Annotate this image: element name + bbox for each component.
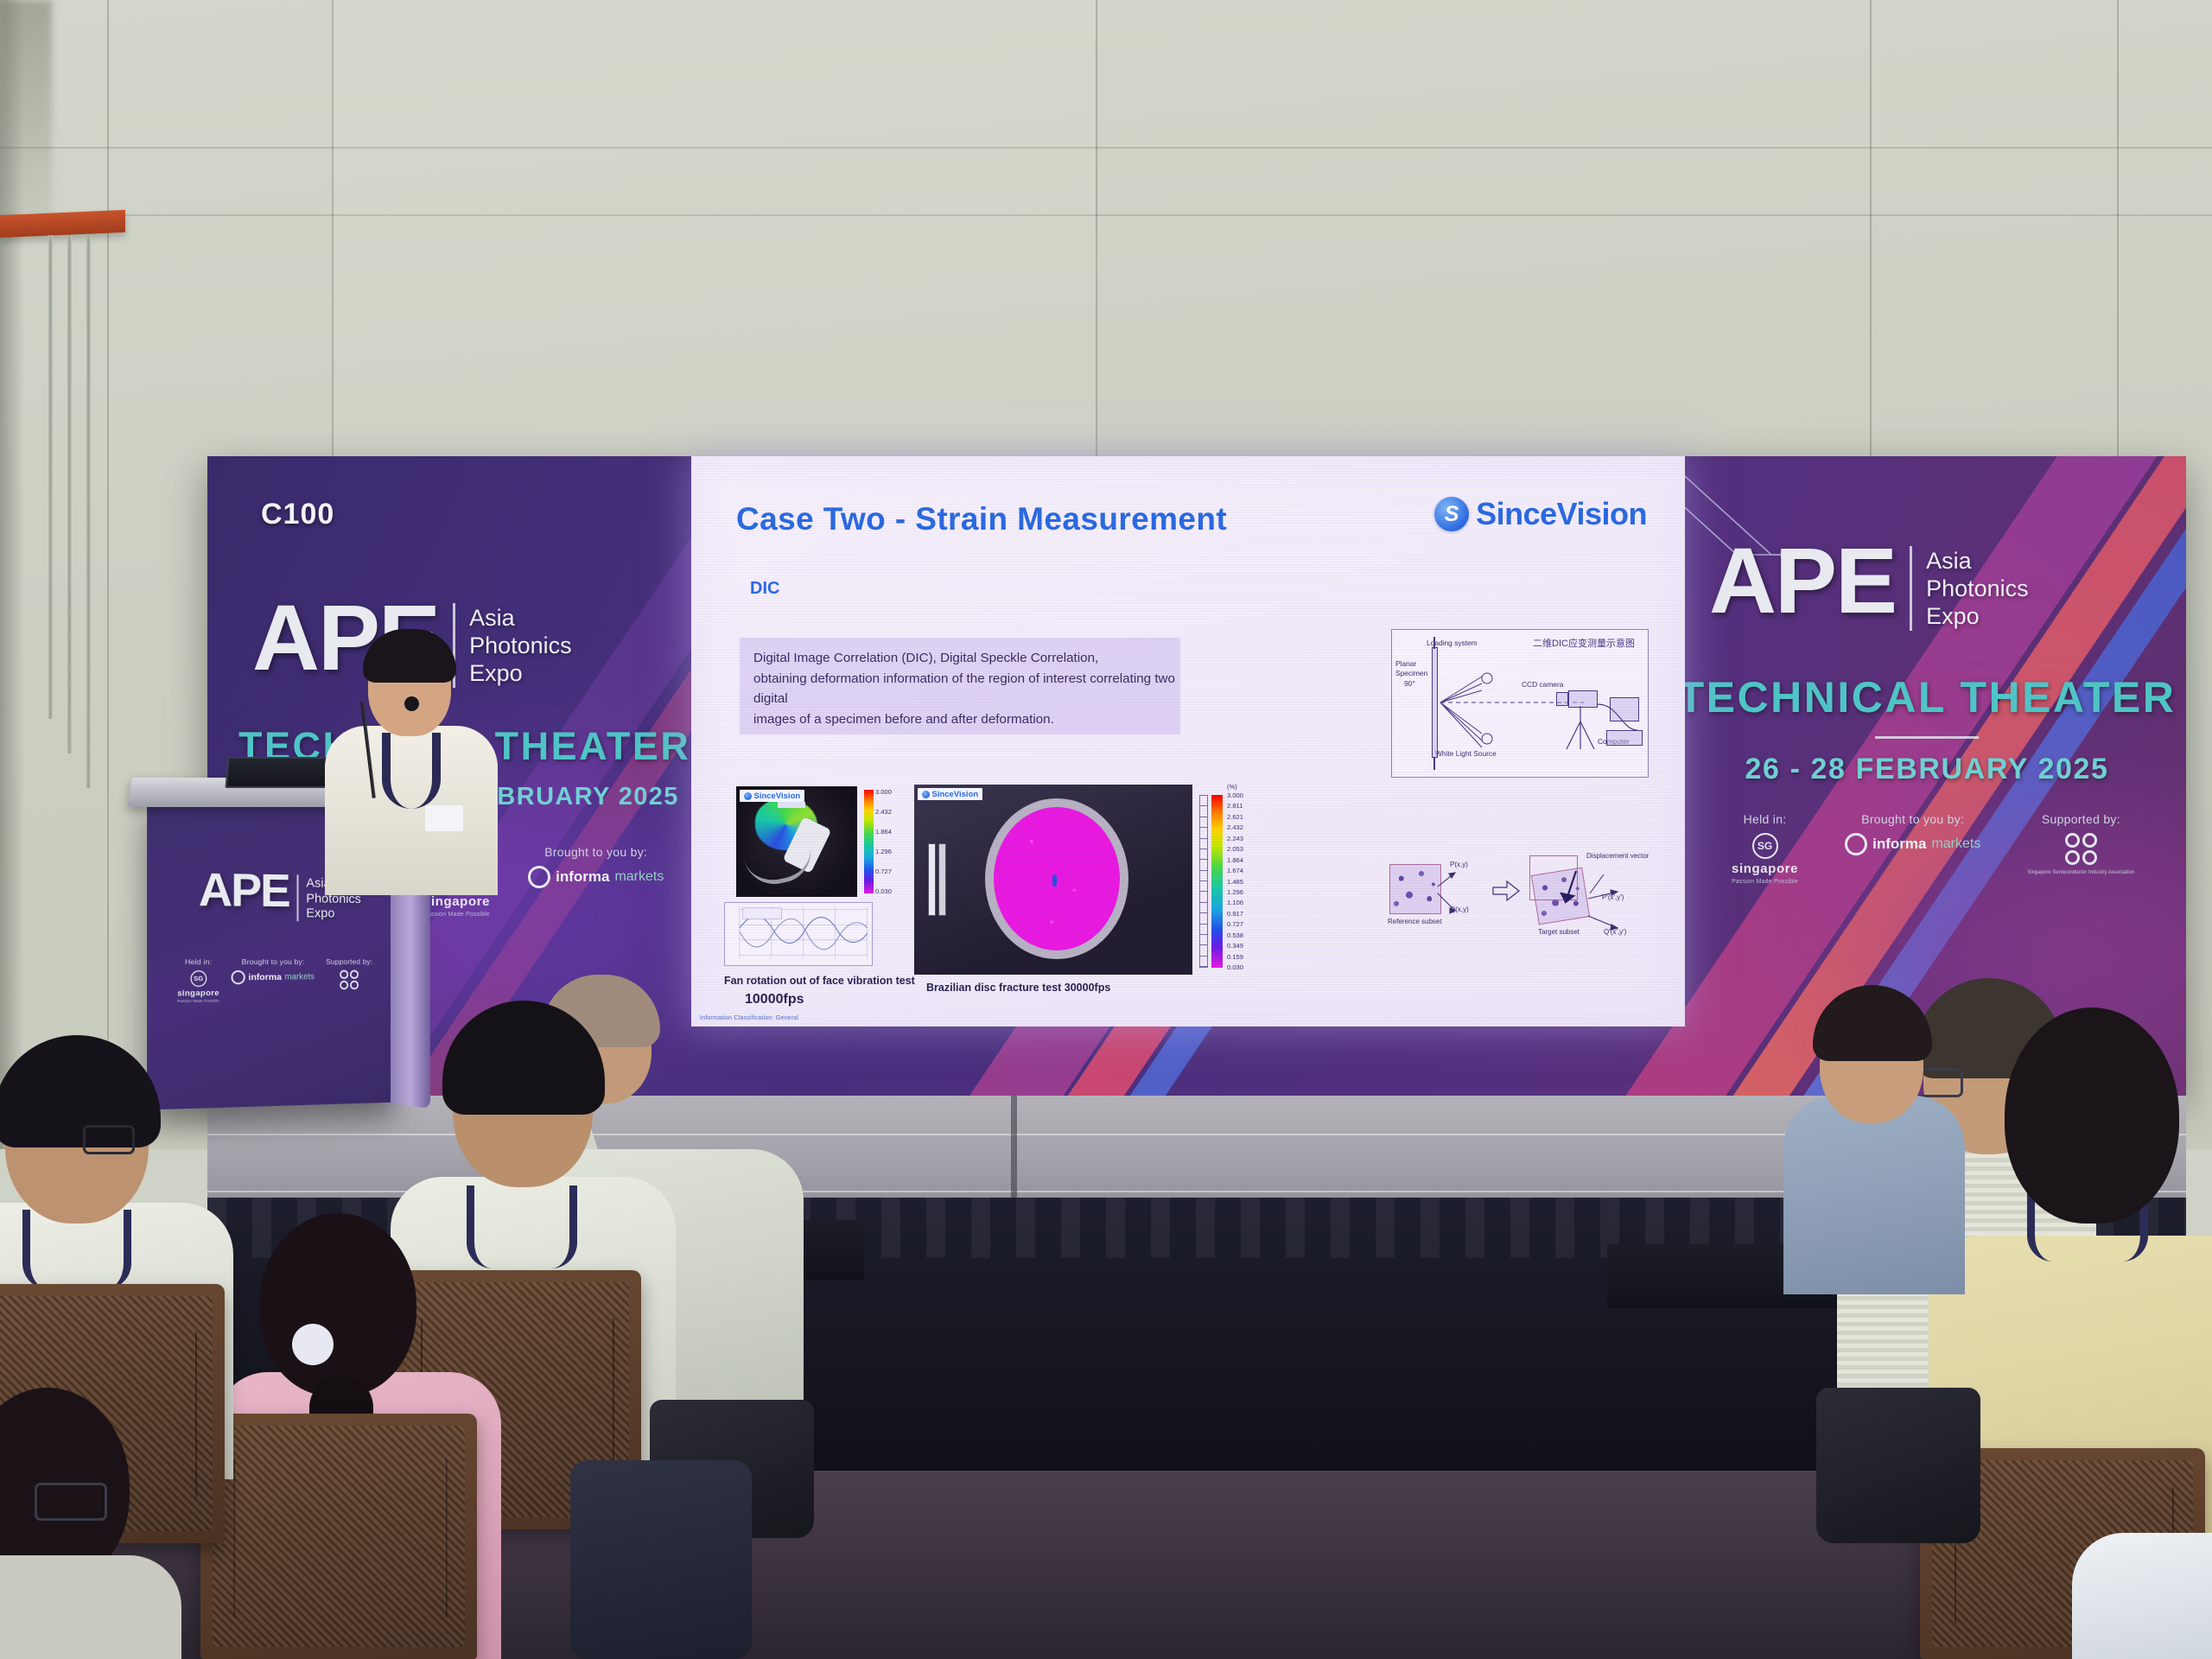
loading-platen-left [928,843,936,916]
dic-schematic-diagram: Loading system Planar Specimen 90° White… [1391,629,1649,778]
sg-ring-icon: SG [190,970,207,987]
sponsor-held-in: Held in: SG singapore Passion Made Possi… [177,957,219,1003]
cb-tick: 3.000 [875,788,892,796]
ape-wordmark: APE [1709,539,1896,621]
presenter-badge [425,805,463,831]
audience-torso [0,1555,181,1659]
fan-housing [744,845,817,889]
cb-tick: 2.621 [1227,813,1243,821]
sponsor-name: informa [1872,836,1926,853]
cb-tick: 2.243 [1227,835,1243,842]
result-caption-fan-line2: 10000fps [745,992,804,1007]
cb-tick: 0.917 [1227,910,1243,918]
sponsor-name: singapore [1732,861,1798,876]
slide-title: Case Two - Strain Measurement [736,501,1227,537]
description-line: obtaining deformation information of the… [753,669,1177,709]
sponsor-tagline: Singapore Semiconductor Industry Associa… [2027,870,2134,875]
cb-tick: 1.674 [1227,867,1243,874]
result-badge-disc: SinceVision [918,788,982,800]
ape-sub-expo: Expo [306,906,360,922]
sponsor-name: singapore [177,988,219,998]
cb-tick: 1.296 [1227,888,1243,896]
cb-tick: 2.053 [1227,845,1243,853]
sponsor-tagline: markets [1931,836,1980,852]
sponsor-tagline: markets [614,869,664,885]
ccd-lens [1556,692,1568,706]
colorbar-unit: (%) [1227,783,1237,791]
sponsor-name: informa [556,868,609,886]
audience-chair [200,1414,477,1659]
sponsor-held-in: Held in: SG singapore Passion Made Possi… [1732,812,1798,885]
audience-lanyard [467,1185,577,1268]
sincevision-wordmark: SinceVision [1476,496,1647,532]
description-line: images of a specimen before and after de… [753,709,1177,730]
cb-tick: 2.811 [1227,802,1243,810]
colorbar-cells-disc [1199,795,1208,968]
result-badge-fan: SinceVision [740,790,804,802]
sponsor-label: Held in: [177,957,219,966]
audience-torso [1783,1096,1965,1294]
badge-text: SinceVision [754,791,801,801]
ape-logo-lockup-right: APE Asia Photonics Expo [1709,539,2029,631]
four-circles-icon [340,970,359,990]
sponsor-tagline: Passion Made Possible [1732,879,1798,885]
displacement-arrows-icon [1550,868,1633,937]
cb-tick: 0.727 [1227,920,1243,928]
logo-divider [1910,546,1912,631]
ape-sub-asia: Asia [1926,548,2029,575]
sponsor-name: singapore [423,894,490,909]
podium-sponsor-row: Held in: SG singapore Passion Made Possi… [177,957,372,1003]
result-caption-disc: Brazilian disc fracture test 30000fps [926,982,1110,994]
reference-subset-patch [1389,864,1441,914]
schematic-label-angle: 90° [1404,679,1415,688]
sponsor-brought-by: Brought to you by: informa markets [528,845,664,888]
waveform-svg [725,903,872,965]
presenter-hair [363,629,456,683]
sponsor-tagline: Passion Made Possible [177,999,219,1003]
result-caption-fan-line1: Fan rotation out of face vibration test [724,975,915,987]
sponsor-supported-by: Supported by: [326,957,372,989]
ape-sub-photonics: Photonics [1926,575,2029,603]
load-arrow-up [1433,637,1435,649]
cb-tick: 3.000 [1227,791,1243,799]
cb-tick: 2.432 [1227,823,1243,831]
audience-legs [570,1460,752,1659]
schematic-label-specimen2: Specimen [1395,669,1427,677]
colorbar-fan [864,790,874,893]
colorbar-ticks-disc: 3.000 2.811 2.621 2.432 2.243 2.053 1.86… [1227,791,1243,971]
hair-clip [292,1324,334,1365]
logo-divider [297,874,299,921]
informa-ring-icon [528,866,550,888]
cb-tick: 0.727 [875,868,892,875]
cb-tick: 0.030 [875,887,892,895]
cb-tick: 1.864 [1227,856,1243,864]
reference-subset-label: Reference subset [1388,918,1442,925]
title-divider [1875,736,1979,739]
sponsor-label: Brought to you by: [528,845,664,859]
sponsor-name: informa [248,972,281,983]
stage-seam [1011,1096,1017,1198]
audience-bag [1816,1388,1980,1543]
backdrop-right-panel: APE Asia Photonics Expo TECHNICAL THEATE… [1668,456,2186,1096]
sincevision-mark-icon [1434,497,1469,531]
audience-head [259,1213,416,1396]
event-dates-right: 26 - 28 FEBRUARY 2025 [1668,753,2186,786]
ape-sub-asia: Asia [469,605,572,632]
subset-arrows-icon [1436,868,1471,921]
sincevision-mark-icon [922,791,930,798]
displacement-vector-label: Displacement vector [1586,852,1649,860]
sponsor-label: Supported by: [326,957,372,966]
sponsor-label: Supported by: [2027,812,2134,826]
sponsor-tagline: markets [284,972,314,982]
slide-section-label: DIC [750,579,779,599]
fan-annotation-tag [778,802,805,808]
cb-tick: 1.485 [1227,878,1243,886]
colorbar-ticks-fan: 3.000 2.432 1.864 1.296 0.727 0.030 [875,788,892,895]
wall-pipe [86,235,91,788]
sponsor-label: Brought to you by: [232,957,315,966]
cable-icon [1596,701,1644,741]
cb-tick: 1.296 [875,848,892,855]
presenter-lanyard [382,733,441,809]
ccd-camera-body [1568,690,1598,708]
badge-text: SinceVision [932,790,979,799]
ape-sub-expo: Expo [1926,603,2029,631]
schematic-label-specimen1: Planar [1395,659,1416,668]
wall-stain [0,0,52,233]
cb-tick: 1.864 [875,828,892,836]
ape-subtitle: Asia Photonics Expo [1926,539,2029,631]
colorbar-disc [1211,795,1223,968]
sponsor-label: Held in: [1732,812,1798,826]
sg-ring-icon: SG [1752,833,1778,859]
eyeglasses-icon [83,1125,135,1154]
load-arrow-down [1433,758,1435,770]
audience-torso [2072,1533,2212,1659]
cb-tick: 0.159 [1227,953,1243,961]
sincevision-logo: SinceVision [1434,496,1647,532]
loading-platen-right [938,843,946,916]
sponsor-label: Brought to you by: [1845,812,1980,826]
slide-footer-classification: Information Classification: General [700,1015,798,1021]
disc-center-marker [1052,874,1057,887]
cb-tick: 1.106 [1227,899,1243,906]
wall-pipe [48,235,53,719]
booth-badge: C100 [261,498,334,531]
technical-theater-title-right: TECHNICAL THEATER [1668,672,2186,722]
four-circles-icon [2065,833,2097,865]
schematic-chinese-title: 二维DIC应变测量示意图 [1533,636,1635,650]
wall-seam [107,0,109,1149]
sponsor-row-right: Held in: SG singapore Passion Made Possi… [1732,812,2134,885]
ape-wordmark: APE [199,870,289,912]
disc-strain-field [994,807,1120,950]
audience-head [2005,1007,2179,1224]
sponsor-supported-by: Supported by: Singapore Semiconductor In… [2027,812,2134,875]
microphone-head [404,696,419,711]
informa-ring-icon [1845,833,1867,855]
transform-arrow-icon [1491,880,1521,902]
presentation-slide: Case Two - Strain Measurement SinceVisio… [691,456,1685,1027]
eyeglasses-icon [35,1483,107,1521]
cb-tick: 0.349 [1227,942,1243,950]
cb-tick: 2.432 [875,808,892,816]
subset-correlation-diagram: Reference subset P(x,y) Q(x,y) Target su… [1389,849,1649,952]
vibration-waveform-plot [724,902,873,966]
result-image-fan [736,786,857,897]
sincevision-mark-icon [744,792,752,800]
cb-tick: 0.538 [1227,931,1243,939]
wall-pipe [67,235,72,753]
result-image-brazilian-disc [914,785,1192,975]
cb-tick: 0.030 [1227,963,1243,971]
informa-ring-icon [232,970,245,984]
description-text: Digital Image Correlation (DIC), Digital… [753,648,1177,730]
presenter [321,636,505,895]
sponsor-brought-by: Brought to you by: informa markets [232,957,315,984]
sponsor-tagline: Passion Made Possible [423,912,490,918]
sponsor-brought-by: Brought to you by: informa markets [1845,812,1980,855]
description-line: Digital Image Correlation (DIC), Digital… [753,648,1177,669]
conference-photo-scene: C100 APE Asia Photonics Expo TECHNICAL T… [0,0,2212,1659]
